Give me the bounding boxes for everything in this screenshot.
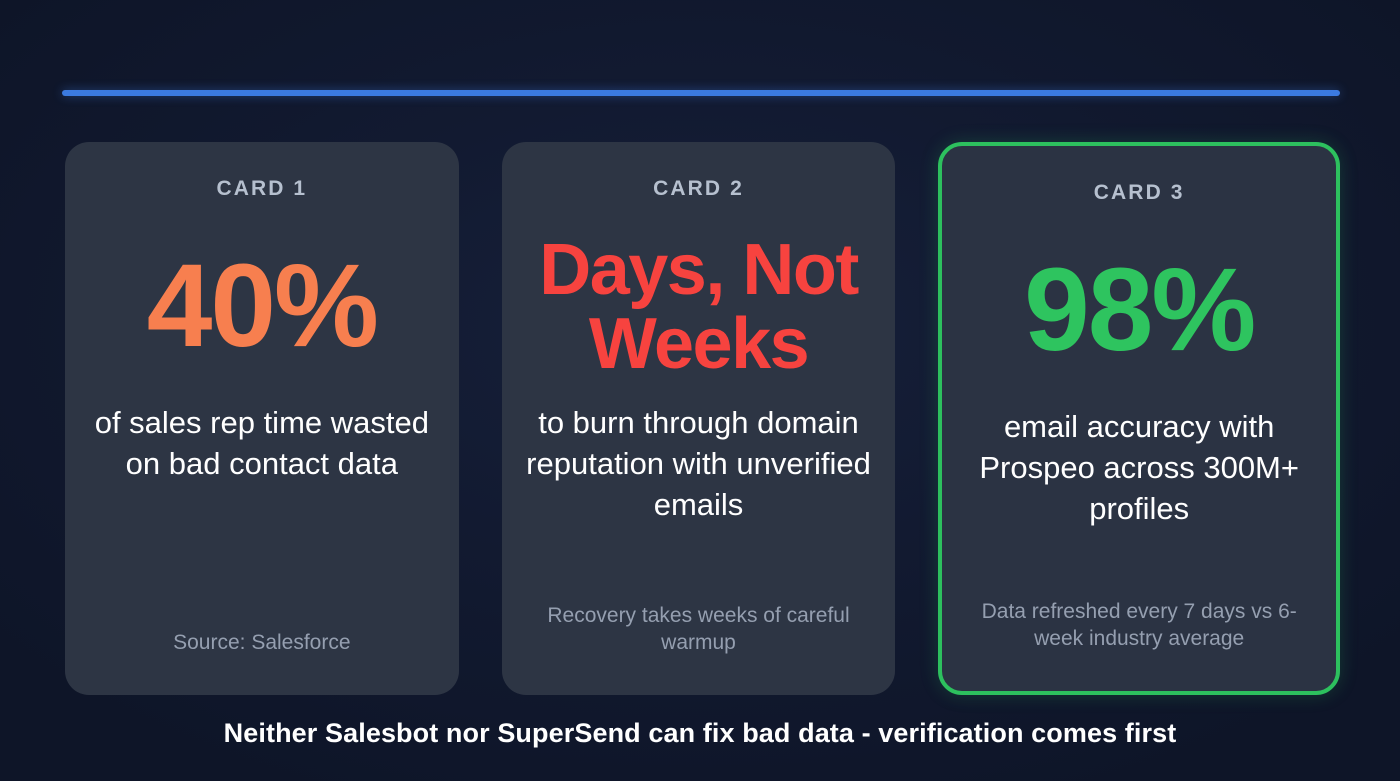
card-2-stat-value: Days, Not Weeks [524,233,874,381]
card-1-stat-wrap: 40% [87,227,437,387]
card-2-label: CARD 2 [653,178,744,199]
card-3-description: email accuracy with Prospeo across 300M+… [964,407,1314,530]
card-1-stat-value: 40% [147,249,377,365]
card-3-stat-value: 98% [1024,253,1254,369]
stat-card-row: CARD 1 40% of sales rep time wasted on b… [65,142,1340,695]
card-3-label: CARD 3 [1094,182,1185,203]
stat-card-2: CARD 2 Days, Not Weeks to burn through d… [502,142,896,695]
stat-card-3: CARD 3 98% email accuracy with Prospeo a… [938,142,1340,695]
card-1-label: CARD 1 [216,178,307,199]
stat-card-1: CARD 1 40% of sales rep time wasted on b… [65,142,459,695]
card-1-description: of sales rep time wasted on bad contact … [87,403,437,485]
card-1-footnote: Source: Salesforce [173,629,350,665]
card-2-stat-wrap: Days, Not Weeks [524,227,874,387]
card-2-footnote: Recovery takes weeks of careful warmup [524,602,874,665]
bottom-caption: Neither Salesbot nor SuperSend can fix b… [0,718,1400,749]
top-accent-rule [62,90,1340,96]
card-3-footnote: Data refreshed every 7 days vs 6-week in… [964,598,1314,661]
card-2-description: to burn through domain reputation with u… [524,403,874,526]
card-3-stat-wrap: 98% [964,231,1314,391]
